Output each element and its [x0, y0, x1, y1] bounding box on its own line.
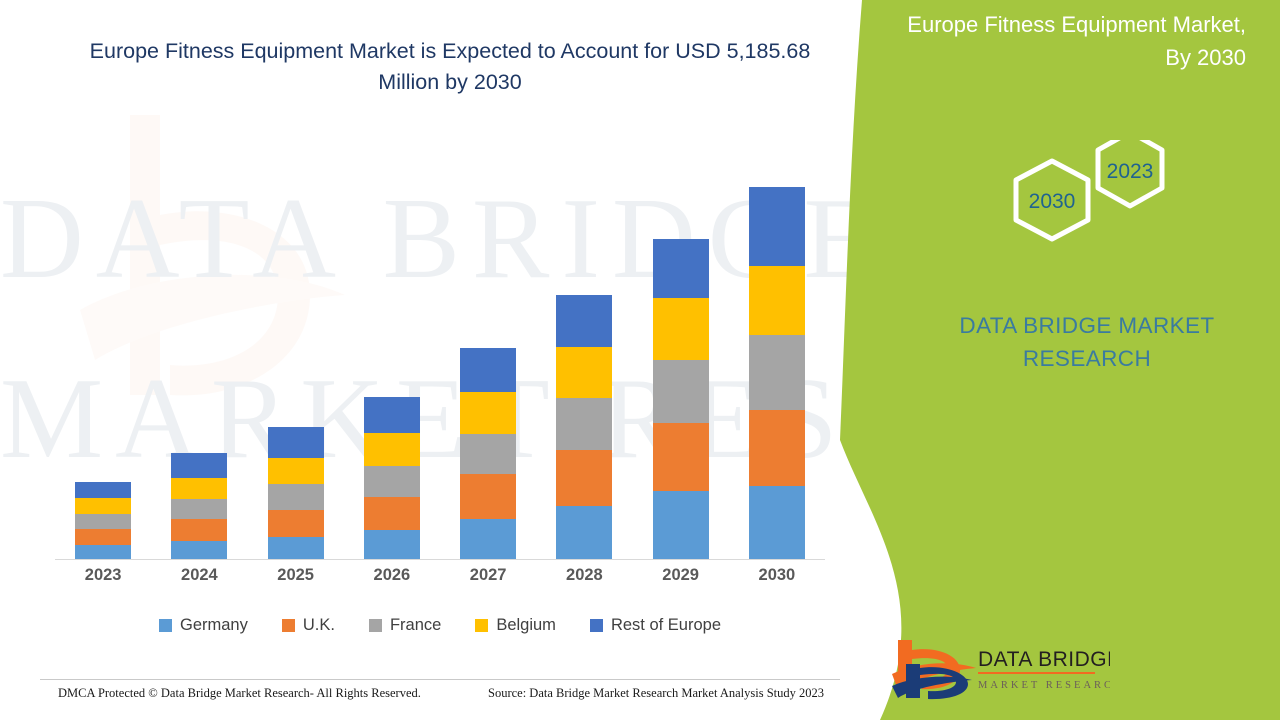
page-title: Europe Fitness Equipment Market is Expec… — [60, 36, 840, 98]
hexagon-2023-icon: 2023 — [1098, 140, 1162, 206]
dbmr-logo: DATA BRIDGE MARKET RESEARCH — [890, 636, 1110, 702]
legend-item[interactable]: U.K. — [282, 616, 335, 635]
legend-swatch-icon — [282, 619, 295, 632]
bar-segment[interactable] — [749, 187, 805, 266]
bar-segment[interactable] — [556, 506, 612, 559]
bar-segment[interactable] — [364, 397, 420, 433]
svg-text:2030: 2030 — [1029, 190, 1076, 213]
bar-slot — [536, 170, 632, 559]
bar-segment[interactable] — [653, 360, 709, 424]
bar-slot — [344, 170, 440, 559]
bar-segment[interactable] — [75, 482, 131, 498]
legend-swatch-icon — [475, 619, 488, 632]
x-axis-tick-label: 2027 — [440, 566, 536, 585]
infographic-canvas: DATA BRIDGE MARKET RESEARCH Europe Fitne… — [0, 0, 1280, 720]
stacked-bar[interactable] — [460, 348, 516, 559]
footer-source: Source: Data Bridge Market Research Mark… — [488, 686, 824, 701]
stacked-bar[interactable] — [364, 397, 420, 559]
legend-label: Germany — [180, 616, 248, 635]
legend-label: U.K. — [303, 616, 335, 635]
legend-swatch-icon — [590, 619, 603, 632]
stacked-bar[interactable] — [268, 427, 324, 559]
x-axis-tick-label: 2026 — [344, 566, 440, 585]
bar-segment[interactable] — [364, 497, 420, 530]
bar-segment[interactable] — [556, 347, 612, 399]
bar-segment[interactable] — [653, 298, 709, 360]
bar-slot — [151, 170, 247, 559]
stacked-bar[interactable] — [75, 482, 131, 559]
legend-item[interactable]: Germany — [159, 616, 248, 635]
svg-text:MARKET RESEARCH: MARKET RESEARCH — [978, 680, 1110, 691]
bar-segment[interactable] — [749, 335, 805, 411]
stacked-bar[interactable] — [556, 295, 612, 559]
stacked-bar[interactable] — [749, 187, 805, 559]
bar-segment[interactable] — [460, 519, 516, 559]
bar-slot — [248, 170, 344, 559]
stacked-bar[interactable] — [653, 239, 709, 559]
legend-item[interactable]: Rest of Europe — [590, 616, 721, 635]
legend-label: Belgium — [496, 616, 556, 635]
bar-segment[interactable] — [460, 474, 516, 519]
bar-segment[interactable] — [364, 433, 420, 466]
bar-segment[interactable] — [268, 427, 324, 458]
footer-divider — [40, 679, 840, 680]
bar-segment[interactable] — [171, 519, 227, 541]
bar-segment[interactable] — [268, 458, 324, 484]
bar-segment[interactable] — [460, 434, 516, 474]
bar-segment[interactable] — [75, 529, 131, 545]
x-axis-tick-label: 2025 — [248, 566, 344, 585]
chart-plot-area — [55, 170, 825, 560]
bar-segment[interactable] — [364, 530, 420, 559]
bar-segment[interactable] — [556, 295, 612, 347]
legend-label: France — [390, 616, 441, 635]
bar-segment[interactable] — [653, 239, 709, 298]
hexagon-badges: 2030 2023 — [980, 140, 1200, 280]
stacked-bar[interactable] — [171, 453, 227, 559]
legend-item[interactable]: Belgium — [475, 616, 556, 635]
bar-segment[interactable] — [171, 541, 227, 559]
footer-copyright: DMCA Protected © Data Bridge Market Rese… — [58, 686, 421, 701]
x-axis-tick-label: 2030 — [729, 566, 825, 585]
bar-segment[interactable] — [171, 499, 227, 519]
bar-segment[interactable] — [460, 348, 516, 393]
bar-segment[interactable] — [653, 491, 709, 559]
x-axis-labels: 20232024202520262027202820292030 — [55, 566, 825, 585]
bar-segment[interactable] — [364, 466, 420, 497]
bar-segment[interactable] — [749, 486, 805, 559]
panel-title: Europe Fitness Equipment Market, By 2030 — [876, 8, 1246, 74]
bar-segment[interactable] — [268, 484, 324, 510]
bar-segment[interactable] — [749, 266, 805, 335]
bar-slot — [729, 170, 825, 559]
legend-swatch-icon — [159, 619, 172, 632]
bar-segment[interactable] — [75, 498, 131, 514]
legend-swatch-icon — [369, 619, 382, 632]
bar-group — [55, 170, 825, 559]
logo-mark-icon — [892, 640, 976, 699]
bar-slot — [633, 170, 729, 559]
bar-segment[interactable] — [556, 398, 612, 450]
legend-label: Rest of Europe — [611, 616, 721, 635]
x-axis-tick-label: 2029 — [633, 566, 729, 585]
brand-name: DATA BRIDGE MARKET RESEARCH — [922, 310, 1252, 375]
legend-item[interactable]: France — [369, 616, 441, 635]
chart-legend: GermanyU.K.FranceBelgiumRest of Europe — [55, 616, 825, 635]
bar-segment[interactable] — [460, 392, 516, 434]
bar-segment[interactable] — [75, 514, 131, 529]
x-axis-tick-label: 2023 — [55, 566, 151, 585]
svg-text:DATA BRIDGE: DATA BRIDGE — [978, 648, 1110, 671]
x-axis-line — [55, 559, 825, 560]
bar-segment[interactable] — [268, 537, 324, 559]
bar-segment[interactable] — [749, 410, 805, 486]
x-axis-tick-label: 2024 — [151, 566, 247, 585]
bar-segment[interactable] — [653, 423, 709, 491]
svg-text:2023: 2023 — [1107, 160, 1154, 183]
bar-segment[interactable] — [268, 510, 324, 537]
bar-slot — [55, 170, 151, 559]
x-axis-tick-label: 2028 — [536, 566, 632, 585]
bar-segment[interactable] — [75, 545, 131, 559]
bar-slot — [440, 170, 536, 559]
bar-segment[interactable] — [171, 478, 227, 499]
hexagon-2030-icon: 2030 — [1016, 161, 1088, 239]
bar-segment[interactable] — [171, 453, 227, 478]
bar-segment[interactable] — [556, 450, 612, 506]
